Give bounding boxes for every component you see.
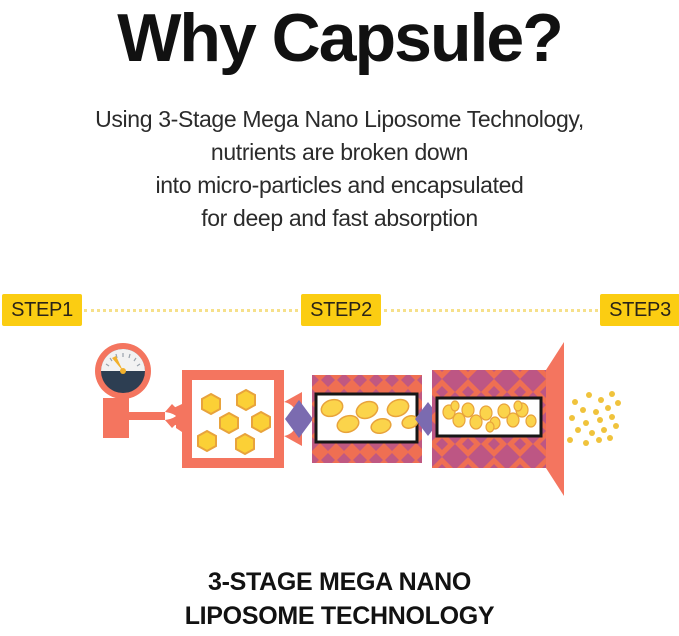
step-connector-line-2 <box>384 309 598 312</box>
subheading-line-1: Using 3-Stage Mega Nano Liposome Technol… <box>0 103 679 136</box>
technology-caption: 3-STAGE MEGA NANO LIPOSOME TECHNOLOGY <box>0 565 679 633</box>
why-capsule-infographic: { "headline": "Why Capsule?", "subhead":… <box>0 0 679 636</box>
process-illustration <box>0 340 679 500</box>
feed-pipe-icon <box>103 398 182 438</box>
step-badge-2: STEP2 <box>301 294 381 326</box>
step-badge-3: STEP3 <box>600 294 679 326</box>
subheading-line-3: into micro-particles and encapsulated <box>0 169 679 202</box>
subheading-line-2: nutrients are broken down <box>0 136 679 169</box>
spray-nozzle-icon <box>546 342 564 496</box>
particle-chamber-icon <box>176 370 302 468</box>
process-illustration-svg <box>0 340 679 500</box>
liposome-tube-stage2-icon <box>312 375 422 463</box>
page-title: Why Capsule? <box>0 0 679 80</box>
liposome-tube-stage3-icon <box>432 370 546 468</box>
step-connector-line-1 <box>84 309 298 312</box>
subheading-block: Using 3-Stage Mega Nano Liposome Technol… <box>0 103 679 235</box>
steps-timeline: STEP1 STEP2 STEP3 <box>0 294 679 328</box>
subheading-line-4: for deep and fast absorption <box>0 202 679 235</box>
caption-line-2: LIPOSOME TECHNOLOGY <box>0 599 679 633</box>
step-badge-1: STEP1 <box>2 294 82 326</box>
nano-particle-spray-icon <box>567 391 621 446</box>
caption-line-1: 3-STAGE MEGA NANO <box>0 565 679 599</box>
pressure-gauge-icon <box>95 343 151 399</box>
